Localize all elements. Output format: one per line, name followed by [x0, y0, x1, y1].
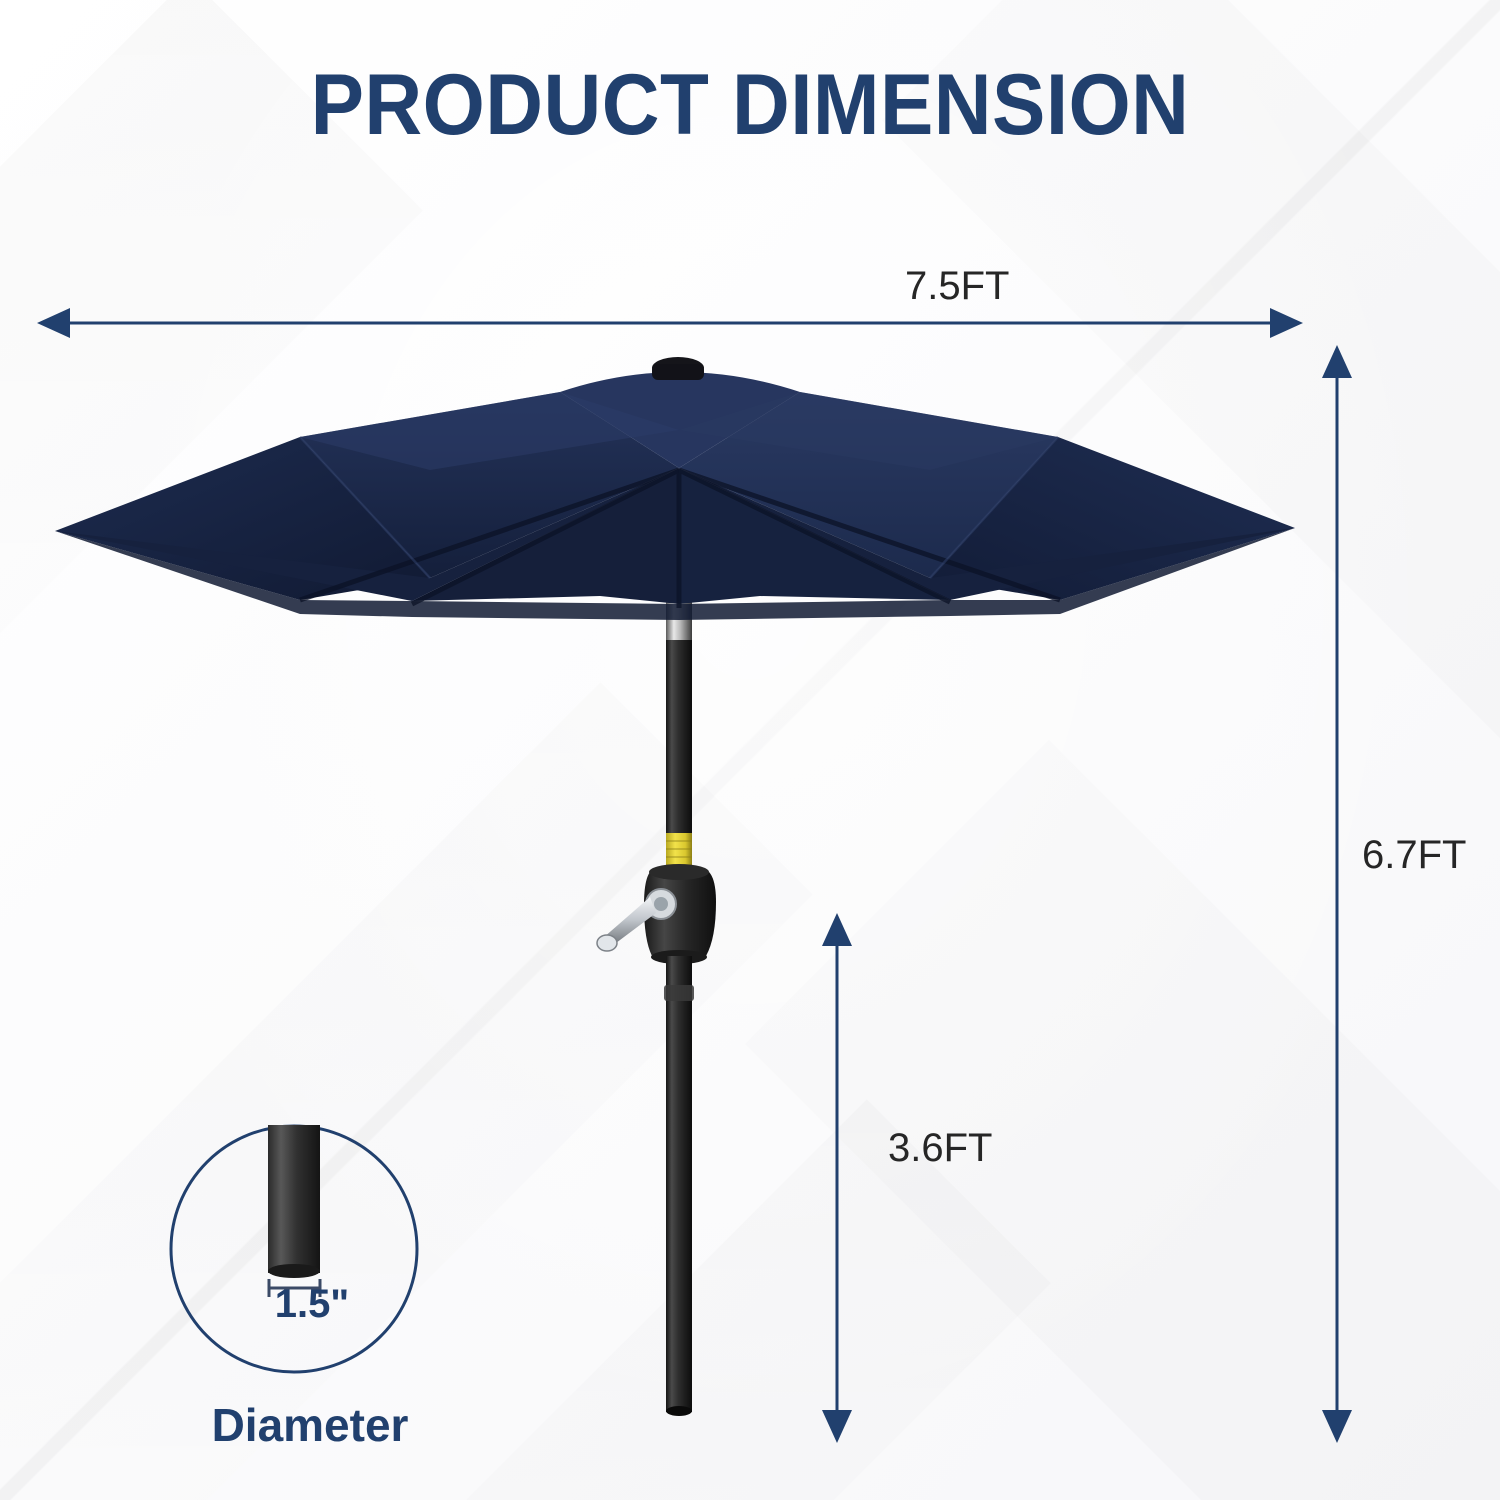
product-dimension-diagram: PRODUCT DIMENSION: [0, 0, 1500, 1500]
inset-diameter-value: 1.5": [247, 1282, 377, 1327]
inset-pole-segment: [268, 1125, 320, 1273]
inset-diameter-caption: Diameter: [140, 1398, 480, 1452]
diameter-inset: [0, 0, 1500, 1500]
